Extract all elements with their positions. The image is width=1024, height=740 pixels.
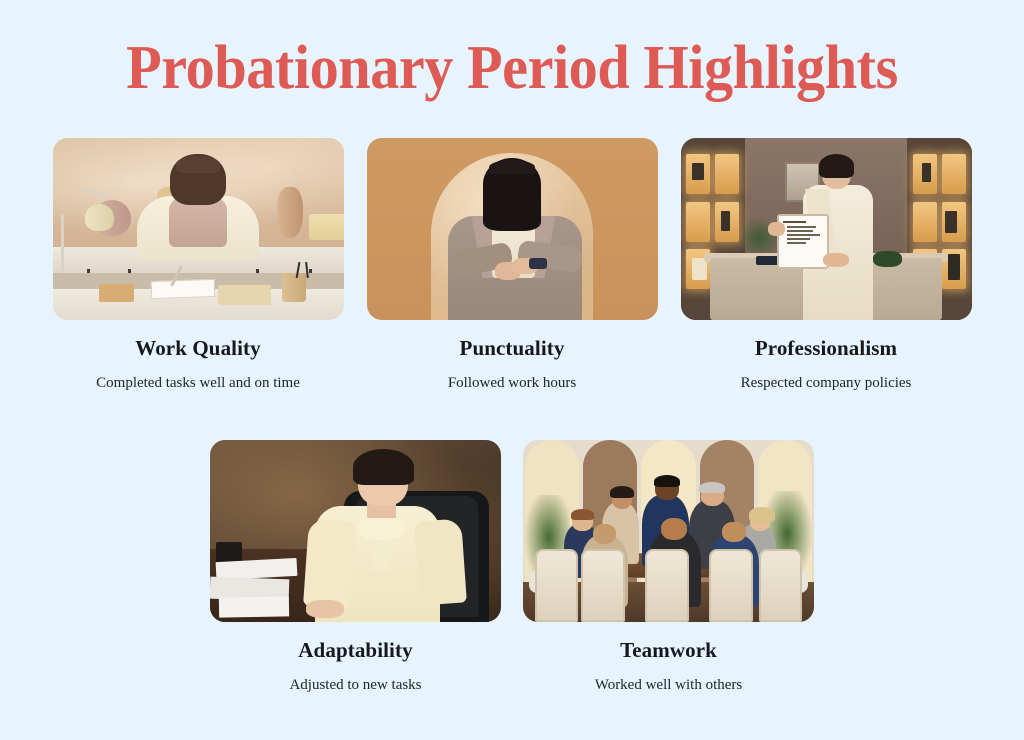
hair xyxy=(353,449,414,485)
lamp-shade xyxy=(85,204,114,231)
card-title: Work Quality xyxy=(53,336,344,361)
card-description: Worked well with others xyxy=(523,677,814,694)
back-facing-person-head xyxy=(593,524,616,544)
shelf-object xyxy=(922,163,931,181)
hair xyxy=(819,154,854,178)
checklist-line xyxy=(787,238,811,240)
standing-person-hair xyxy=(654,475,680,488)
highlight-card-punctuality[interactable]: Punctuality Followed work hours xyxy=(367,138,658,392)
lamp-stem xyxy=(61,214,64,272)
checklist-line xyxy=(787,230,813,232)
card-description: Respected company policies xyxy=(681,375,972,392)
checklist-line xyxy=(787,234,820,236)
hand-holding-tablet xyxy=(768,222,785,237)
page-title: Probationary Period Highlights xyxy=(31,36,994,101)
highlight-card-work-quality[interactable]: Work Quality Completed tasks well and on… xyxy=(53,138,344,392)
card-title: Adaptability xyxy=(210,638,501,663)
paper-stack xyxy=(219,596,289,617)
highlight-card-teamwork[interactable]: Teamwork Worked well with others xyxy=(523,440,814,694)
card-title: Professionalism xyxy=(681,336,972,361)
shelf-object xyxy=(945,211,957,233)
meeting-chair xyxy=(759,549,803,622)
hair-part xyxy=(489,160,536,175)
seated-person-hair xyxy=(571,509,594,520)
blouse xyxy=(169,198,227,247)
woman-holding-checklist-tablet-photo xyxy=(681,138,972,320)
card-row-top: Work Quality Completed tasks well and on… xyxy=(52,138,972,392)
hand-supporting-tablet xyxy=(823,253,849,268)
shelf-object xyxy=(692,163,704,179)
notepad xyxy=(151,279,216,299)
notebook xyxy=(218,285,270,305)
desk-organizer xyxy=(99,284,134,302)
hands xyxy=(306,600,344,618)
checklist-tablet xyxy=(777,214,829,269)
sleeve-right xyxy=(414,519,466,606)
storage-box xyxy=(309,214,344,239)
meeting-chair xyxy=(581,549,625,622)
wristwatch xyxy=(529,258,546,269)
woman-writing-at-desk-photo xyxy=(53,138,344,320)
card-row-bottom: Adaptability Adjusted to new tasks xyxy=(211,440,813,694)
meeting-chair xyxy=(645,549,689,622)
seated-person-hair xyxy=(749,507,775,522)
lit-niche xyxy=(913,202,936,242)
checklist-line xyxy=(787,242,806,244)
desk-plant xyxy=(873,251,902,267)
standing-person-hair xyxy=(699,482,725,493)
woman-at-office-chair-photo xyxy=(210,440,501,622)
woman-checking-watch-photo xyxy=(367,138,658,320)
lit-niche xyxy=(686,202,709,242)
hair-front xyxy=(176,156,220,172)
back-facing-person-head xyxy=(722,522,745,542)
poster-canvas: Probationary Period Highlights xyxy=(0,0,1024,740)
meeting-chair xyxy=(709,549,753,622)
neck-bow xyxy=(358,516,405,540)
card-description: Completed tasks well and on time xyxy=(53,375,344,392)
checklist-lines xyxy=(782,221,824,264)
standing-person-hair xyxy=(610,486,633,499)
highlight-card-adaptability[interactable]: Adaptability Adjusted to new tasks xyxy=(210,440,501,694)
checklist-line xyxy=(787,226,817,228)
shelf-vase xyxy=(948,254,960,279)
pen-cup xyxy=(282,273,305,302)
card-title: Punctuality xyxy=(367,336,658,361)
checklist-heading-line xyxy=(783,221,806,223)
back-facing-person-head xyxy=(661,518,687,540)
lit-niche xyxy=(942,154,965,194)
card-description: Adjusted to new tasks xyxy=(210,677,501,694)
lit-niche xyxy=(715,154,738,194)
sleeve-left xyxy=(303,519,356,609)
tall-vase xyxy=(277,187,303,238)
meeting-chair xyxy=(535,549,579,622)
shelf-object xyxy=(721,211,730,231)
card-title: Teamwork xyxy=(523,638,814,663)
highlight-card-professionalism[interactable]: Professionalism Respected company polici… xyxy=(681,138,972,392)
card-description: Followed work hours xyxy=(367,375,658,392)
team-meeting-photo xyxy=(523,440,814,622)
